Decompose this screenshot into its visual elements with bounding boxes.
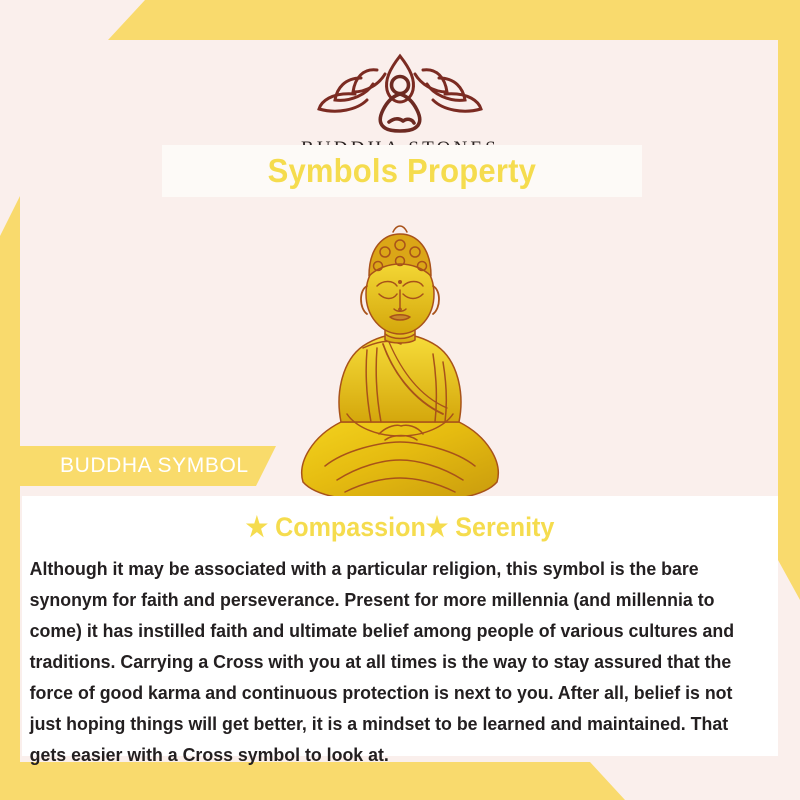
golden-buddha-statue-icon — [285, 214, 515, 514]
symbols-property-infographic: BUDDHA STONES Symbols Property — [0, 0, 800, 800]
decorative-frame-right — [778, 0, 800, 600]
title-band: Symbols Property — [162, 145, 642, 197]
buddha-symbol-ribbon: BUDDHA SYMBOL — [20, 446, 276, 486]
description-panel: ★ Compassion★ Serenity Although it may b… — [22, 496, 778, 756]
brand-header: BUDDHA STONES — [22, 44, 778, 160]
decorative-frame-top — [0, 0, 800, 40]
ribbon-label: BUDDHA SYMBOL — [20, 454, 249, 478]
page-title: Symbols Property — [268, 152, 536, 190]
attributes-headline: ★ Compassion★ Serenity — [48, 496, 751, 543]
content-area: BUDDHA STONES Symbols Property — [22, 44, 778, 756]
description-paragraph: Although it may be associated with a par… — [22, 543, 744, 770]
decorative-frame-left — [0, 196, 20, 800]
lotus-meditation-icon — [315, 52, 485, 134]
